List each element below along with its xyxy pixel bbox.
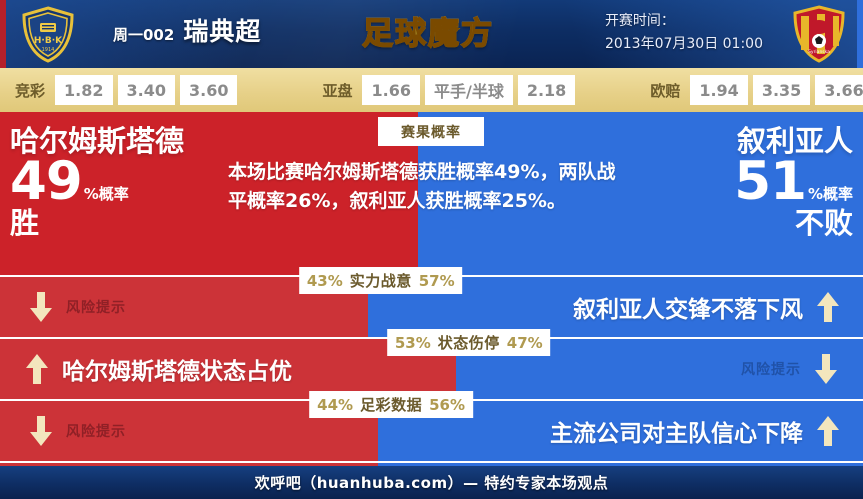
away-stat-message-text: 叙利亚人交锋不落下风 (573, 290, 803, 324)
arrow-up-icon (815, 414, 841, 448)
odds-cell[interactable]: 3.66 (815, 75, 863, 105)
home-verdict: 胜 (10, 208, 225, 240)
away-probability-unit: %概率 (808, 183, 853, 204)
match-identifier: 周一002 瑞典超 (113, 12, 261, 48)
home-stat-message-text: 哈尔姆斯塔德状态占优 (62, 352, 292, 386)
home-risk-indicator: 风险提示 (28, 277, 126, 337)
odds-cell[interactable]: 1.94 (690, 75, 747, 105)
stat-left-pct: 43% (307, 272, 343, 290)
stat-name: 实力战意 (350, 270, 412, 291)
brand-logo-text: 足球魔方 (362, 8, 494, 53)
stat-right-pct: 57% (419, 272, 455, 290)
odds-group-title: 竞彩 (15, 80, 45, 101)
stat-center-label: 44% 足彩数据 56% (309, 391, 473, 418)
match-number: 周一002 (113, 24, 174, 45)
odds-group-jingcai: 竞彩 1.82 3.40 3.60 (15, 75, 242, 105)
stat-right-pct: 47% (507, 334, 543, 352)
footer-bar: 欢呼吧（huanhuba.com）— 特约专家本场观点 (0, 466, 863, 499)
odds-bar: 竞彩 1.82 3.40 3.60 亚盘 1.66 平手/半球 2.18 欧赔 … (0, 68, 863, 112)
kickoff-value: 2013年07月30日 01:00 (605, 33, 763, 56)
away-team-crest-icon: Syrianska (791, 5, 847, 63)
odds-group-title: 欧赔 (650, 80, 680, 101)
away-stat-message: 主流公司对主队信心下降 (550, 401, 841, 461)
arrow-up-icon (815, 290, 841, 324)
stat-center-label: 43% 实力战意 57% (299, 267, 463, 294)
stat-name: 状态伤停 (438, 332, 500, 353)
home-risk-text: 风险提示 (66, 421, 126, 441)
away-stat-message: 叙利亚人交锋不落下风 (573, 277, 841, 337)
odds-cell[interactable]: 1.82 (55, 75, 112, 105)
away-verdict: 不败 (638, 208, 853, 240)
odds-cell-handicap[interactable]: 平手/半球 (425, 75, 513, 105)
odds-cell[interactable]: 3.35 (753, 75, 810, 105)
stat-left-pct: 53% (395, 334, 431, 352)
odds-group-oupei: 欧赔 1.94 3.35 3.66 (650, 75, 863, 105)
home-team-crest-icon: H·B·K 1914 (19, 6, 77, 63)
away-risk-indicator: 风险提示 (741, 339, 839, 399)
home-probability-unit: %概率 (84, 183, 129, 204)
stat-row: 风险提示 44% 足彩数据 56% 主流公司对主队信心下降 (0, 401, 863, 461)
stat-left-pct: 44% (317, 396, 353, 414)
home-risk-indicator: 风险提示 (28, 401, 126, 461)
home-probability-value: 49 (10, 155, 82, 208)
header-bar: H·B·K 1914 周一002 瑞典超 足球魔方 开赛时间： 2013年07月… (0, 0, 863, 68)
league-name: 瑞典超 (183, 12, 261, 48)
kickoff-label: 开赛时间： (605, 10, 763, 33)
odds-cell[interactable]: 1.66 (362, 75, 419, 105)
header-right-accent (857, 0, 863, 68)
stat-row: 哈尔姆斯塔德状态占优 53% 状态伤停 47% 风险提示 (0, 339, 863, 399)
arrow-down-icon (813, 352, 839, 386)
away-probability-summary: 叙利亚人 51 %概率 不败 (638, 126, 853, 240)
stat-row: 风险提示 43% 实力战意 57% 叙利亚人交锋不落下风 (0, 277, 863, 337)
arrow-up-icon (24, 352, 50, 386)
home-stat-message: 哈尔姆斯塔德状态占优 (24, 339, 292, 399)
odds-group-yapan: 亚盘 1.66 平手/半球 2.18 (322, 75, 580, 105)
odds-cell[interactable]: 2.18 (518, 75, 575, 105)
odds-cell[interactable]: 3.60 (180, 75, 237, 105)
result-probability-block: 赛果概率 哈尔姆斯塔德 49 %概率 胜 叙利亚人 51 %概率 不败 本场比赛… (0, 112, 863, 275)
away-stat-message-text: 主流公司对主队信心下降 (550, 414, 803, 448)
arrow-down-icon (28, 290, 54, 324)
stat-rows: 风险提示 43% 实力战意 57% 叙利亚人交锋不落下风 哈 (0, 277, 863, 463)
match-prediction-infographic: H·B·K 1914 周一002 瑞典超 足球魔方 开赛时间： 2013年07月… (0, 0, 863, 499)
footer-text: 欢呼吧（huanhuba.com）— 特约专家本场观点 (255, 472, 609, 493)
svg-text:1914: 1914 (42, 47, 55, 53)
kickoff-time-block: 开赛时间： 2013年07月30日 01:00 (605, 10, 763, 55)
stat-right-pct: 56% (429, 396, 465, 414)
stat-center-label: 53% 状态伤停 47% (387, 329, 551, 356)
svg-text:H·B·K: H·B·K (34, 36, 63, 46)
odds-cell[interactable]: 3.40 (118, 75, 175, 105)
odds-group-title: 亚盘 (322, 80, 352, 101)
home-risk-text: 风险提示 (66, 297, 126, 317)
probability-summary-text: 本场比赛哈尔姆斯塔德获胜概率49%，两队战平概率26%，叙利亚人获胜概率25%。 (228, 158, 628, 216)
home-probability-summary: 哈尔姆斯塔德 49 %概率 胜 (10, 126, 225, 240)
away-risk-text: 风险提示 (741, 359, 801, 379)
svg-text:Syrianska: Syrianska (808, 49, 830, 55)
brand-logo: 足球魔方 (343, 4, 513, 56)
arrow-down-icon (28, 414, 54, 448)
stat-name: 足彩数据 (360, 394, 422, 415)
header-left-accent (0, 0, 6, 68)
probability-tab-label: 赛果概率 (378, 117, 484, 146)
away-probability-value: 51 (734, 155, 806, 208)
